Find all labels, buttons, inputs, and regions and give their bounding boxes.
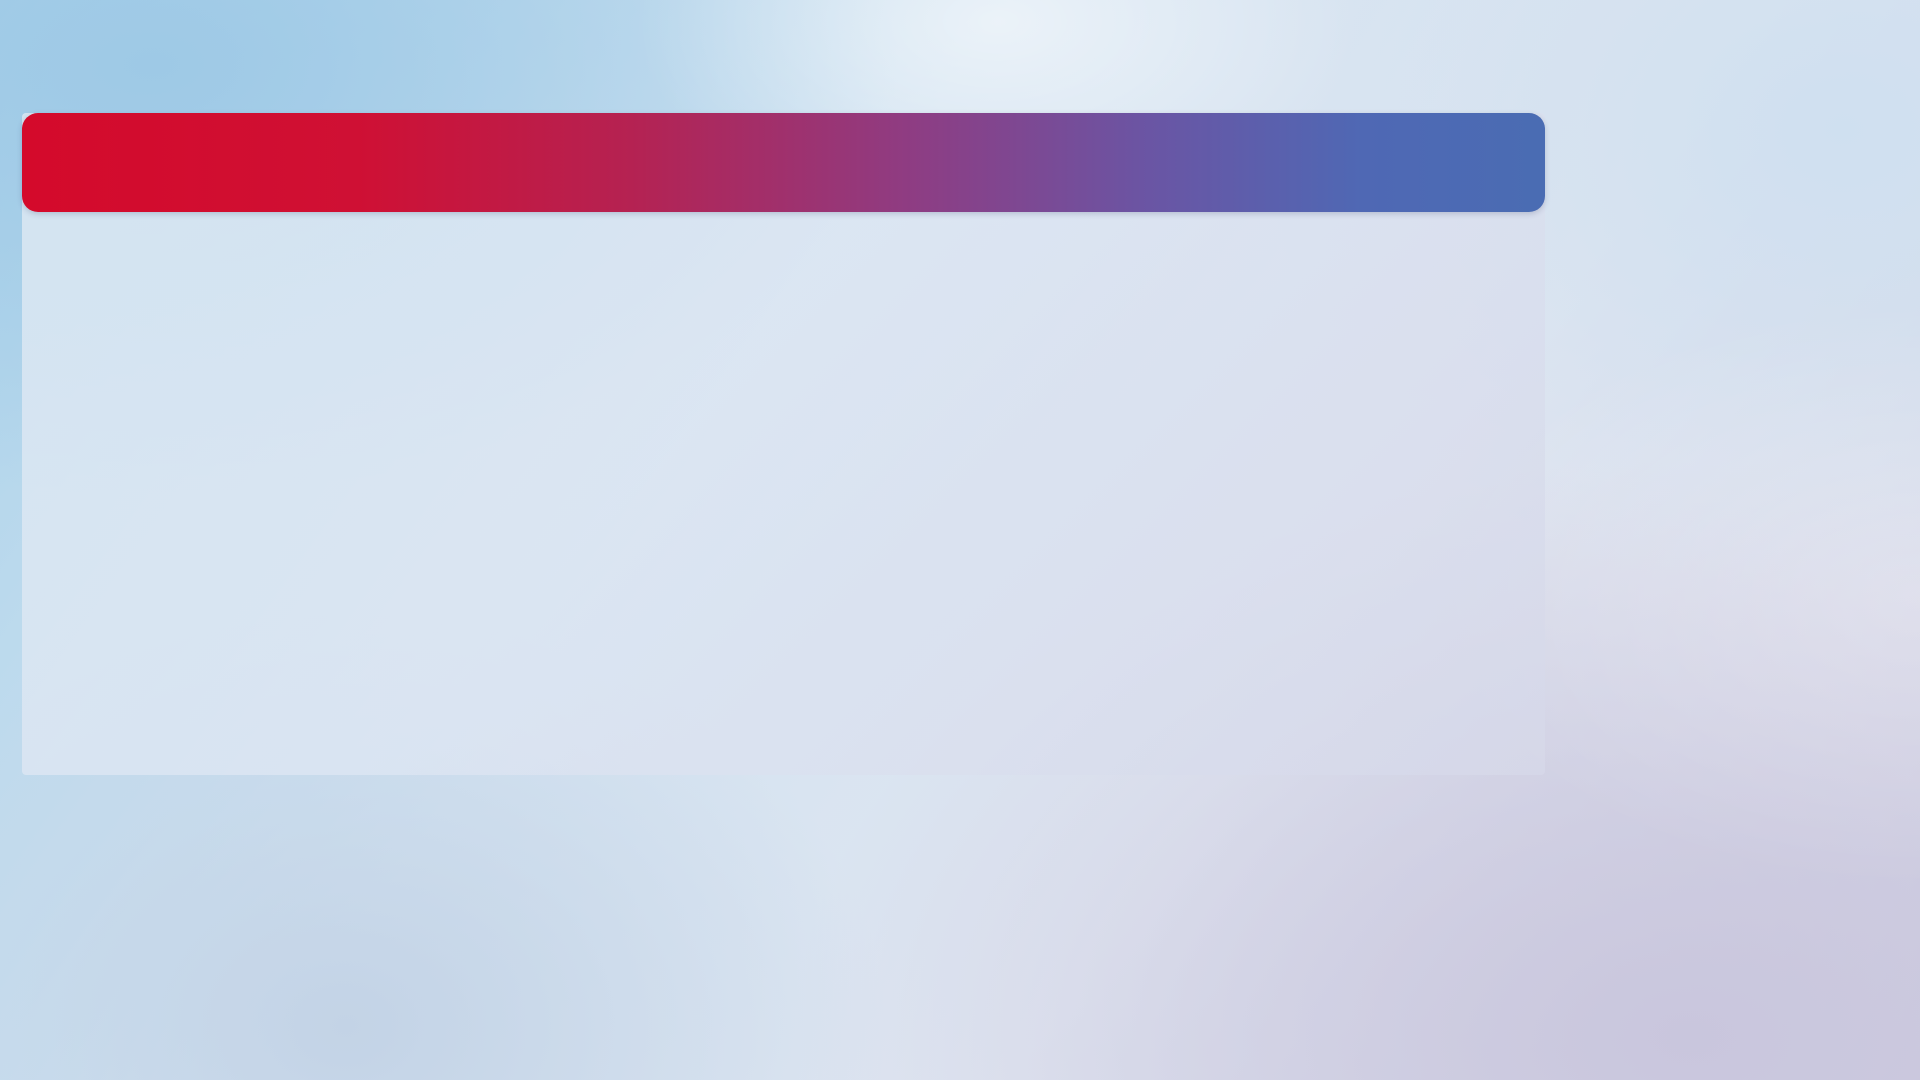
table-body — [22, 212, 1545, 775]
service-matrix-table — [22, 113, 1545, 775]
table-header-row — [22, 113, 1545, 212]
